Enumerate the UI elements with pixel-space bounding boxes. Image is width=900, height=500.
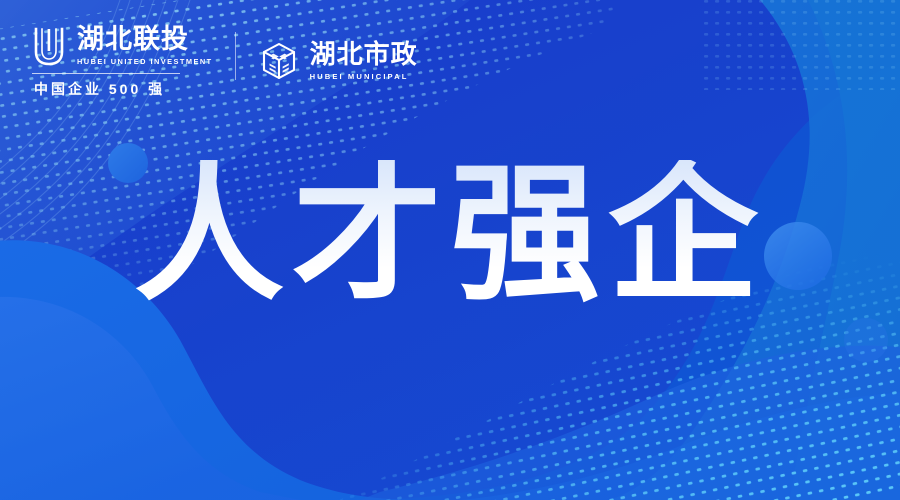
brand-secondary: 湖北市政 HUBEI MUNICIPAL — [258, 40, 418, 82]
brand-primary-row: 湖北联投 HUBEI UNITED INVESTMENT — [30, 26, 213, 66]
brand-primary-tagline: 中国企业 500 强 — [30, 79, 165, 99]
brand-primary-name-en: HUBEI UNITED INVESTMENT — [77, 57, 213, 66]
poster-canvas: 湖北联投 HUBEI UNITED INVESTMENT 中国企业 500 强 — [0, 0, 900, 500]
headline-title: 人才强企 — [0, 160, 900, 310]
brand-secondary-name-cn: 湖北市政 — [310, 41, 418, 67]
cube-box-icon — [258, 40, 300, 82]
brand-primary: 湖北联投 HUBEI UNITED INVESTMENT 中国企业 500 强 — [30, 26, 213, 99]
brand-divider-rule — [32, 73, 180, 74]
dot-field-topright — [700, 0, 900, 90]
brand-primary-text: 湖北联投 HUBEI UNITED INVESTMENT — [77, 26, 213, 66]
brand-secondary-name-en: HUBEI MUNICIPAL — [310, 72, 418, 81]
logo-vertical-divider — [235, 32, 236, 80]
brand-primary-name-cn: 湖北联投 — [77, 26, 213, 53]
logo-bar: 湖北联投 HUBEI UNITED INVESTMENT 中国企业 500 强 — [30, 26, 418, 99]
brand-secondary-text: 湖北市政 HUBEI MUNICIPAL — [310, 41, 418, 81]
circle-decoration-extra — [844, 318, 888, 362]
u-monogram-icon — [30, 26, 68, 66]
